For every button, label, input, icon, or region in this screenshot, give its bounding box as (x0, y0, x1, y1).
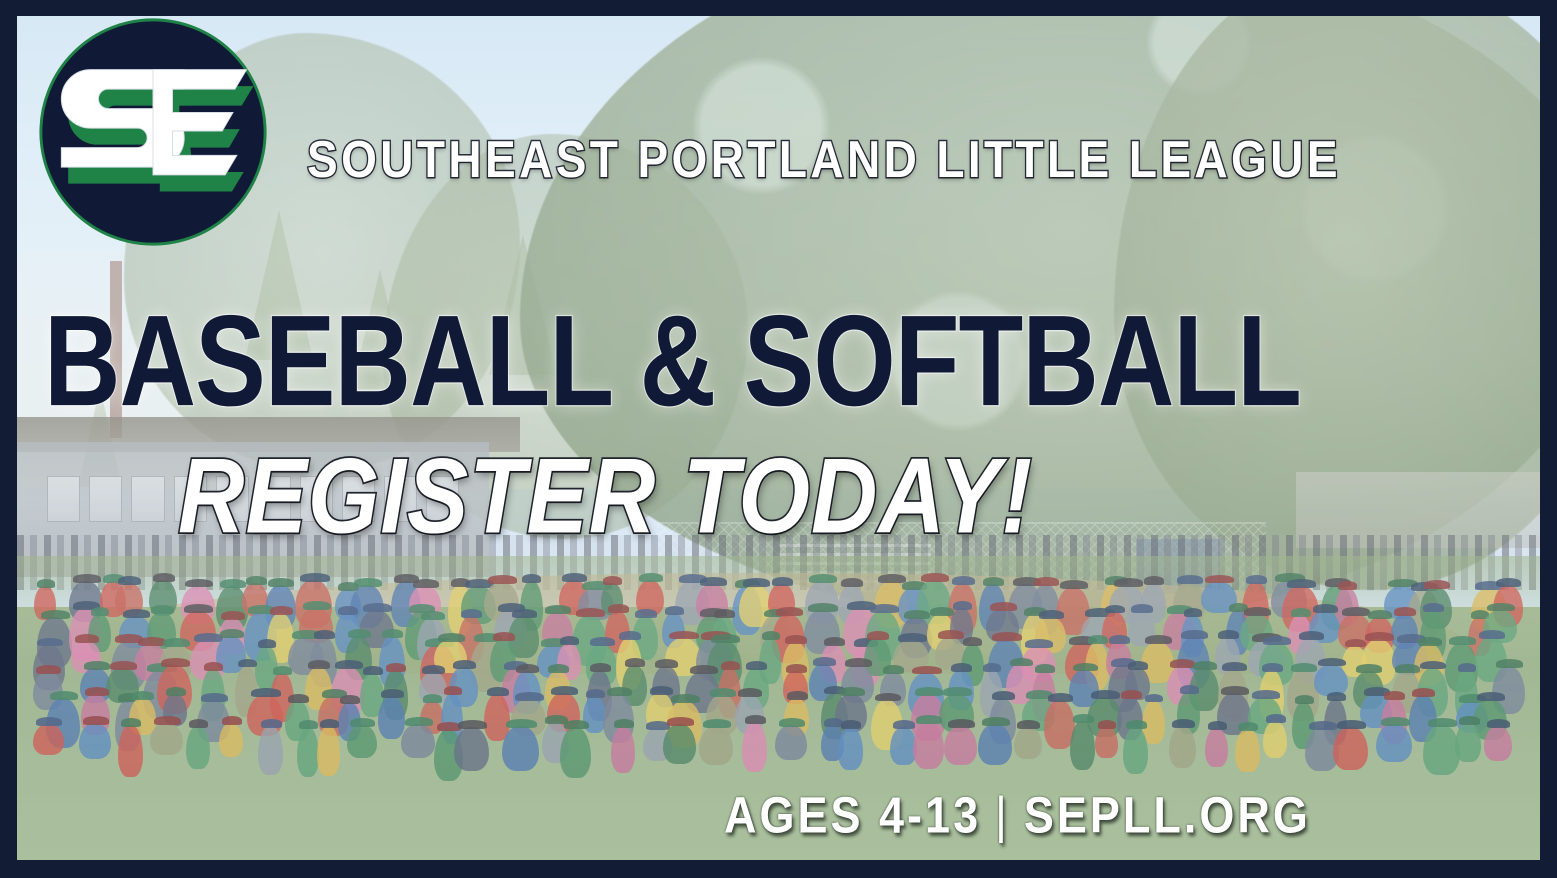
crowd-cap (221, 611, 244, 620)
crowd-cap (85, 687, 109, 696)
crowd-cap (1017, 720, 1040, 729)
crowd-cap (560, 636, 580, 645)
crowd-cap (453, 660, 476, 669)
crowd-cap (123, 609, 150, 618)
crowd-cap (745, 715, 765, 724)
crowd-cap (586, 689, 605, 698)
crowd-cap (867, 631, 889, 640)
crowd-cap (983, 663, 1002, 672)
crowd-cap (189, 719, 208, 728)
crowd-cap (382, 629, 403, 638)
crowd-person (1095, 727, 1117, 759)
crowd-cap (270, 606, 292, 615)
crowd-cap (444, 686, 462, 695)
crowd-cap (904, 610, 931, 619)
crowd-cap (423, 694, 442, 703)
crowd-cap (667, 717, 694, 726)
crowd-cap (422, 665, 445, 674)
crowd-cap (1262, 663, 1283, 672)
crowd-cap (73, 574, 101, 583)
crowd-cap (703, 719, 731, 728)
crowd-cap (1246, 575, 1268, 584)
crowd-cap (268, 578, 294, 587)
crowd-cap (1098, 720, 1116, 729)
crowd-cap (1496, 659, 1523, 668)
call-to-action-text: REGISTER TODAY! (178, 436, 1033, 558)
crowd-person (978, 724, 1012, 765)
crowd-cap (785, 635, 807, 644)
crowd-person (258, 726, 283, 774)
crowd-cap (1365, 632, 1394, 641)
league-logo[interactable] (36, 15, 270, 249)
crowd-cap (288, 694, 308, 703)
crowd-cap (512, 609, 537, 618)
crowd-cap (655, 659, 678, 668)
crowd-cap (1034, 577, 1058, 586)
crowd-cap (1252, 690, 1280, 699)
crowd-cap (1238, 722, 1258, 731)
crowd-cap (808, 603, 838, 612)
crowd-cap (438, 633, 465, 642)
crowd-cap (1126, 720, 1147, 729)
crowd-person (79, 723, 111, 758)
crowd-cap (222, 716, 242, 725)
crowd-person (1376, 724, 1412, 762)
crowd-cap (665, 606, 684, 615)
crowd-person (1455, 723, 1481, 761)
crowd-cap (841, 578, 863, 587)
crowd-cap (1318, 658, 1346, 667)
crowd-cap (824, 637, 845, 646)
crowd-cap (545, 605, 570, 614)
crowd-cap (314, 630, 336, 639)
crowd-cap (1477, 692, 1505, 701)
crowd-cap (948, 719, 975, 728)
crowd-person (1484, 726, 1513, 762)
registration-banner: SOUTHEAST PORTLAND LITTLE LEAGUE BASEBAL… (0, 0, 1557, 878)
crowd-cap (1418, 637, 1442, 646)
crowd-cap (246, 576, 267, 585)
crowd-person (33, 724, 64, 755)
crowd-person (186, 726, 209, 769)
crowd-cap (1208, 721, 1227, 730)
crowd-cap (951, 663, 972, 672)
crowd-cap (1338, 581, 1358, 590)
crowd-cap (650, 686, 673, 695)
crowd-cap (220, 629, 244, 638)
crowd-cap (990, 602, 1016, 611)
crowd-cap (118, 576, 141, 585)
crowd-person (1123, 727, 1148, 773)
crowd-person (150, 723, 183, 755)
crowd-cap (1291, 663, 1317, 672)
crowd-cap (522, 574, 541, 583)
crowd-cap (1177, 575, 1203, 584)
crowd-cap (303, 601, 331, 610)
crowd-cap (1035, 664, 1055, 673)
crowd-cap (161, 658, 190, 667)
crowd-cap (883, 665, 904, 674)
crowd-cap (743, 578, 770, 587)
crowd-cap (184, 604, 214, 613)
crowd-person (1205, 728, 1228, 767)
crowd-cap (354, 578, 381, 587)
crowd-cap (1180, 685, 1199, 694)
crowd-cap (84, 661, 110, 670)
crowd-person (742, 722, 767, 772)
crowd-cap (1010, 658, 1034, 667)
crowd-cap (320, 719, 339, 728)
crowd-person (297, 727, 319, 777)
crowd-cap (870, 604, 899, 613)
crowd-cap (493, 632, 515, 641)
crowd-cap (635, 609, 656, 618)
crowd-cap (562, 573, 587, 582)
crowd-cap (878, 574, 906, 583)
crowd-cap (121, 718, 141, 727)
crowd-person (699, 726, 733, 765)
crowd-cap (1039, 610, 1065, 619)
crowd-cap (603, 576, 621, 585)
crowd-cap (893, 720, 915, 729)
crowd-cap (607, 687, 633, 696)
crowd-cap (41, 610, 70, 619)
crowd-cap (153, 573, 175, 582)
crowd-person (347, 725, 377, 759)
crowd-cap (363, 603, 392, 612)
crowd-person (775, 725, 807, 759)
crowd-person (219, 723, 243, 757)
crowd-cap (421, 611, 445, 620)
crowd-cap (300, 573, 330, 582)
crowd-cap (308, 660, 330, 669)
crowd-cap (37, 638, 63, 647)
crowd-cap (338, 606, 358, 615)
crowd-person (560, 727, 591, 778)
crowd-cap (1327, 692, 1346, 701)
footer-separator: | (981, 786, 1024, 845)
crowd-cap (1394, 607, 1416, 616)
crowd-cap (163, 638, 191, 647)
crowd-cap (608, 604, 629, 613)
crowd-cap (746, 661, 767, 670)
crowd-person (663, 724, 696, 765)
crowd-cap (787, 691, 808, 700)
website-label[interactable]: SEPLL.ORG (1024, 786, 1311, 844)
crowd-cap (700, 577, 726, 586)
crowd-cap (711, 634, 740, 643)
crowd-person (1014, 727, 1042, 759)
crowd-cap (1412, 688, 1435, 697)
crowd-cap (953, 601, 972, 610)
crowd-cap (1091, 690, 1120, 699)
crowd-cap (1048, 693, 1074, 702)
crowd-cap (516, 664, 539, 673)
crowd-cap (809, 574, 837, 583)
crowd-cap (1170, 659, 1195, 668)
crowd-cap (1368, 610, 1392, 619)
crowd-cap (1128, 661, 1149, 670)
crowd-cap (110, 661, 137, 670)
crowd-cap (1263, 636, 1291, 645)
crowd-cap (590, 637, 615, 646)
crowd-cap (1295, 695, 1314, 704)
crowd-cap (261, 719, 281, 728)
crowd-cap (1449, 636, 1477, 645)
crowd-cap (506, 719, 536, 728)
crowd-cap (898, 633, 928, 642)
crowd-cap (576, 608, 605, 617)
crowd-person (1423, 725, 1459, 775)
crowd-cap (938, 630, 963, 639)
crowd-cap (1428, 718, 1458, 727)
crowd-cap (258, 639, 277, 648)
crowd-cap (1356, 664, 1381, 673)
crowd-cap (138, 637, 166, 646)
crowd-cap (983, 577, 1005, 586)
team-photo-crowd (40, 573, 1517, 767)
crowd-cap (710, 688, 736, 697)
crowd-cap (738, 688, 762, 697)
crowd-cap (1313, 604, 1338, 613)
crowd-cap (776, 607, 803, 616)
crowd-cap (50, 691, 78, 700)
crowd-cap (1184, 608, 1203, 617)
crowd-cap (166, 687, 186, 696)
crowd-cap (943, 687, 971, 696)
crowd-cap (151, 605, 175, 614)
crowd-person (502, 726, 539, 772)
crowd-cap (772, 577, 794, 586)
crowd-cap (1266, 714, 1286, 723)
crowd-cap (201, 693, 228, 702)
crowd-cap (1459, 716, 1480, 725)
crowd-cap (1479, 630, 1506, 639)
crowd-cap (1345, 639, 1366, 648)
crowd-cap (1131, 604, 1153, 613)
crowd-person (1333, 727, 1368, 770)
crowd-cap (75, 634, 99, 643)
crowd-cap (564, 720, 590, 729)
crowd-cap (381, 689, 404, 698)
crowd-cap (721, 661, 740, 670)
crowd-cap (590, 663, 611, 672)
crowd-cap (982, 717, 1009, 726)
crowd-cap (1073, 663, 1098, 672)
crowd-cap (238, 659, 257, 668)
crowd-cap (779, 718, 805, 727)
crowd-cap (1291, 608, 1311, 617)
crowd-cap (83, 716, 109, 725)
crowd-cap (1424, 580, 1450, 589)
crowd-cap (204, 662, 223, 671)
crowd-cap (992, 691, 1014, 700)
crowd-cap (762, 631, 780, 640)
crowd-cap (551, 686, 578, 695)
crowd-cap (461, 609, 482, 618)
crowd-cap (912, 666, 941, 675)
crowd-cap (363, 666, 383, 675)
crowd-cap (37, 579, 55, 588)
crowd-cap (386, 663, 406, 672)
crowd-cap (839, 687, 865, 696)
crowd-cap (875, 693, 901, 702)
crowd-person (401, 724, 435, 758)
crowd-person (1235, 729, 1260, 773)
crowd-cap (786, 664, 806, 673)
crowd-cap (1145, 635, 1172, 644)
crowd-cap (36, 717, 62, 726)
crowd-cap (185, 579, 213, 588)
crowd-cap (335, 660, 363, 669)
crowd-person (944, 726, 977, 765)
crowd-cap (1218, 630, 1239, 639)
crowd-cap (1244, 607, 1271, 616)
league-name: SOUTHEAST PORTLAND LITTLE LEAGUE (307, 129, 1341, 189)
crowd-cap (1145, 694, 1164, 703)
crowd-cap (1342, 607, 1370, 616)
crowd-cap (91, 607, 109, 616)
crowd-cap (614, 719, 634, 728)
crowd-cap (1496, 578, 1521, 587)
crowd-cap (1309, 721, 1337, 730)
crowd-cap (915, 687, 943, 696)
crowd-cap (671, 694, 700, 703)
crowd-cap (487, 687, 509, 696)
crowd-cap (625, 658, 645, 667)
crowd-cap (639, 573, 663, 582)
crowd-cap (458, 720, 487, 729)
crowd-person (1169, 726, 1197, 768)
crowd-person (611, 726, 635, 773)
crowd-cap (1181, 630, 1208, 639)
crowd-cap (1337, 720, 1365, 729)
crowd-cap (930, 607, 953, 616)
crowd-cap (350, 718, 375, 727)
crowd-cap (690, 665, 719, 674)
crowd-cap (1487, 603, 1515, 612)
crowd-cap (1381, 717, 1410, 726)
crowd-person (118, 725, 142, 777)
crowd-cap (1088, 635, 1108, 644)
crowd-cap (1423, 603, 1445, 612)
crowd-cap (669, 631, 699, 640)
crowd-cap (340, 695, 360, 704)
crowd-person (838, 727, 863, 769)
crowd-cap (1109, 635, 1130, 644)
crowd-cap (1420, 661, 1446, 670)
crowd-cap (1073, 714, 1093, 723)
page-title: BASEBALL & SOFTBALL (44, 288, 1301, 436)
ages-label: AGES 4-13 (724, 786, 981, 844)
crowd-cap (1105, 605, 1125, 614)
crowd-person (454, 727, 489, 771)
crowd-cap (548, 664, 569, 673)
crowd-person (913, 722, 944, 769)
crowd-cap (273, 666, 292, 675)
crowd-cap (154, 716, 181, 725)
crowd-cap (348, 629, 370, 638)
footer-info: AGES 4-13|SEPLL.ORG (724, 786, 1311, 845)
crowd-cap (845, 658, 872, 667)
crowd-cap (1458, 663, 1477, 672)
crowd-person (1070, 721, 1095, 771)
crowd-cap (488, 575, 517, 584)
crowd-cap (1060, 580, 1088, 589)
crowd-cap (1395, 664, 1419, 673)
crowd-cap (841, 720, 861, 729)
crowd-cap (132, 691, 154, 700)
crowd-cap (714, 609, 735, 618)
crowd-person (1263, 721, 1287, 758)
crowd-cap (813, 657, 836, 666)
crowd-cap (515, 692, 544, 701)
crowd-cap (1299, 631, 1324, 640)
crowd-cap (992, 632, 1022, 641)
crowd-cap (220, 579, 246, 588)
crowd-cap (1487, 719, 1510, 728)
crowd-cap (1221, 686, 1249, 695)
crowd-cap (619, 631, 640, 640)
crowd-cap (1144, 576, 1165, 585)
crowd-cap (299, 720, 317, 729)
crowd-cap (413, 579, 439, 588)
crowd-person (378, 696, 406, 739)
crowd-cap (1222, 662, 1247, 671)
crowd-cap (1287, 579, 1317, 588)
crowd-cap (1205, 575, 1234, 584)
crowd-cap (1384, 691, 1405, 700)
crowd-cap (963, 637, 982, 646)
crowd-cap (251, 688, 281, 697)
crowd-cap (405, 717, 433, 726)
crowd-cap (36, 665, 61, 674)
crowd-cap (952, 576, 976, 585)
crowd-cap (1025, 639, 1054, 648)
crowd-cap (921, 573, 948, 582)
crowd-person (317, 726, 340, 776)
crowd-cap (1114, 578, 1143, 587)
crowd-cap (1172, 719, 1195, 728)
crowd-cap (1121, 690, 1142, 699)
crowd-cap (1193, 661, 1217, 670)
crowd-cap (916, 715, 942, 724)
